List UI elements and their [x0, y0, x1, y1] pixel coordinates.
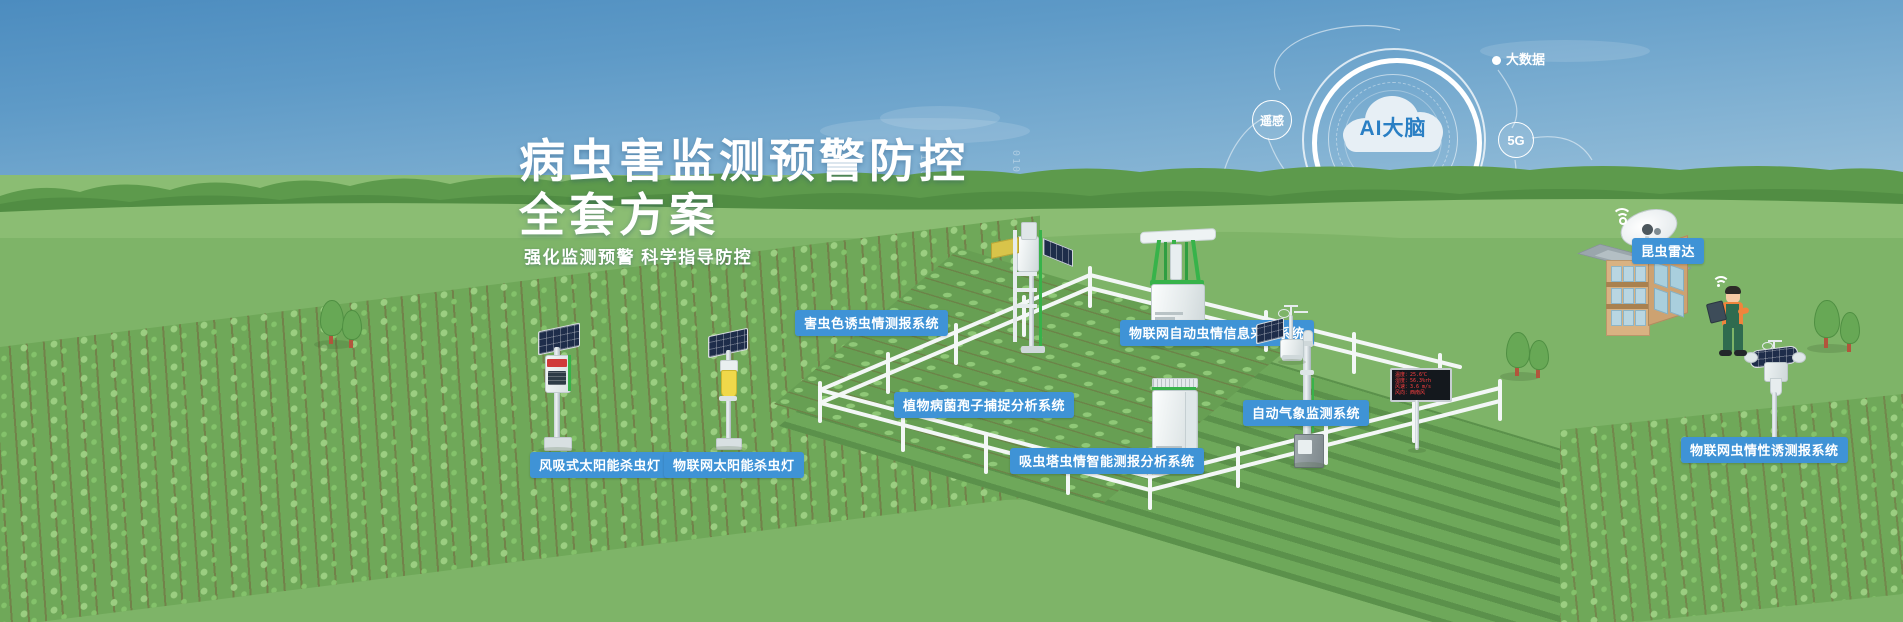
- equipment-wind-solar-lamp[interactable]: [532, 325, 592, 450]
- led-line: 风向：西南风: [1395, 390, 1447, 396]
- tree: [340, 310, 362, 352]
- equipment-weather-station[interactable]: [1262, 305, 1326, 375]
- tree: [1838, 312, 1860, 356]
- insect-radar-building[interactable]: [1596, 204, 1706, 334]
- equipment-color-trap[interactable]: [995, 222, 1085, 352]
- page-subtitle: 强化监测预警 科学指导防控: [524, 243, 752, 268]
- tag-spore-capture[interactable]: 植物病菌孢子捕捉分析系统: [894, 392, 1074, 418]
- hub-node-5g[interactable]: 5G: [1498, 122, 1534, 158]
- tag-color-trap[interactable]: 害虫色诱虫情测报系统: [795, 310, 948, 336]
- hub-node-bigdata-label: 大数据: [1506, 49, 1545, 68]
- tag-iot-pheromone[interactable]: 物联网虫情性诱测报系统: [1681, 437, 1848, 463]
- cloud-shape: [880, 106, 1000, 130]
- hub-node-bigdata-dot: [1492, 56, 1501, 65]
- field-worker[interactable]: [1704, 278, 1754, 360]
- led-display-board[interactable]: 温度：25.6℃ 湿度：56.3%rh 风速：3.6 m/s 风向：西南风: [1390, 368, 1446, 454]
- tree: [1812, 300, 1840, 352]
- scene-root: AI大脑 遥感 大数据 5G 物联网 01001010110010 010010…: [0, 0, 1903, 622]
- tag-suction-tower[interactable]: 吸虫塔虫情智能测报分析系统: [1010, 448, 1204, 474]
- page-title: 病虫害监测预警防控 全套方案: [519, 134, 969, 242]
- tree: [1527, 340, 1549, 382]
- equipment-iot-solar-lamp[interactable]: [704, 330, 762, 450]
- tag-wind-solar-lamp[interactable]: 风吸式太阳能杀虫灯: [530, 452, 670, 478]
- ai-brain-label: AI大脑: [1343, 112, 1443, 142]
- hub-node-label: 遥感: [1260, 112, 1284, 129]
- tag-iot-solar-lamp[interactable]: 物联网太阳能杀虫灯: [664, 452, 804, 478]
- hub-node-label: 5G: [1507, 133, 1524, 148]
- tag-insect-radar[interactable]: 昆虫雷达: [1632, 238, 1704, 264]
- tag-weather-station[interactable]: 自动气象监测系统: [1243, 400, 1369, 426]
- led-readout: 温度：25.6℃ 湿度：56.3%rh 风速：3.6 m/s 风向：西南风: [1390, 368, 1452, 402]
- hub-node-remote-sensing[interactable]: 遥感: [1252, 100, 1292, 140]
